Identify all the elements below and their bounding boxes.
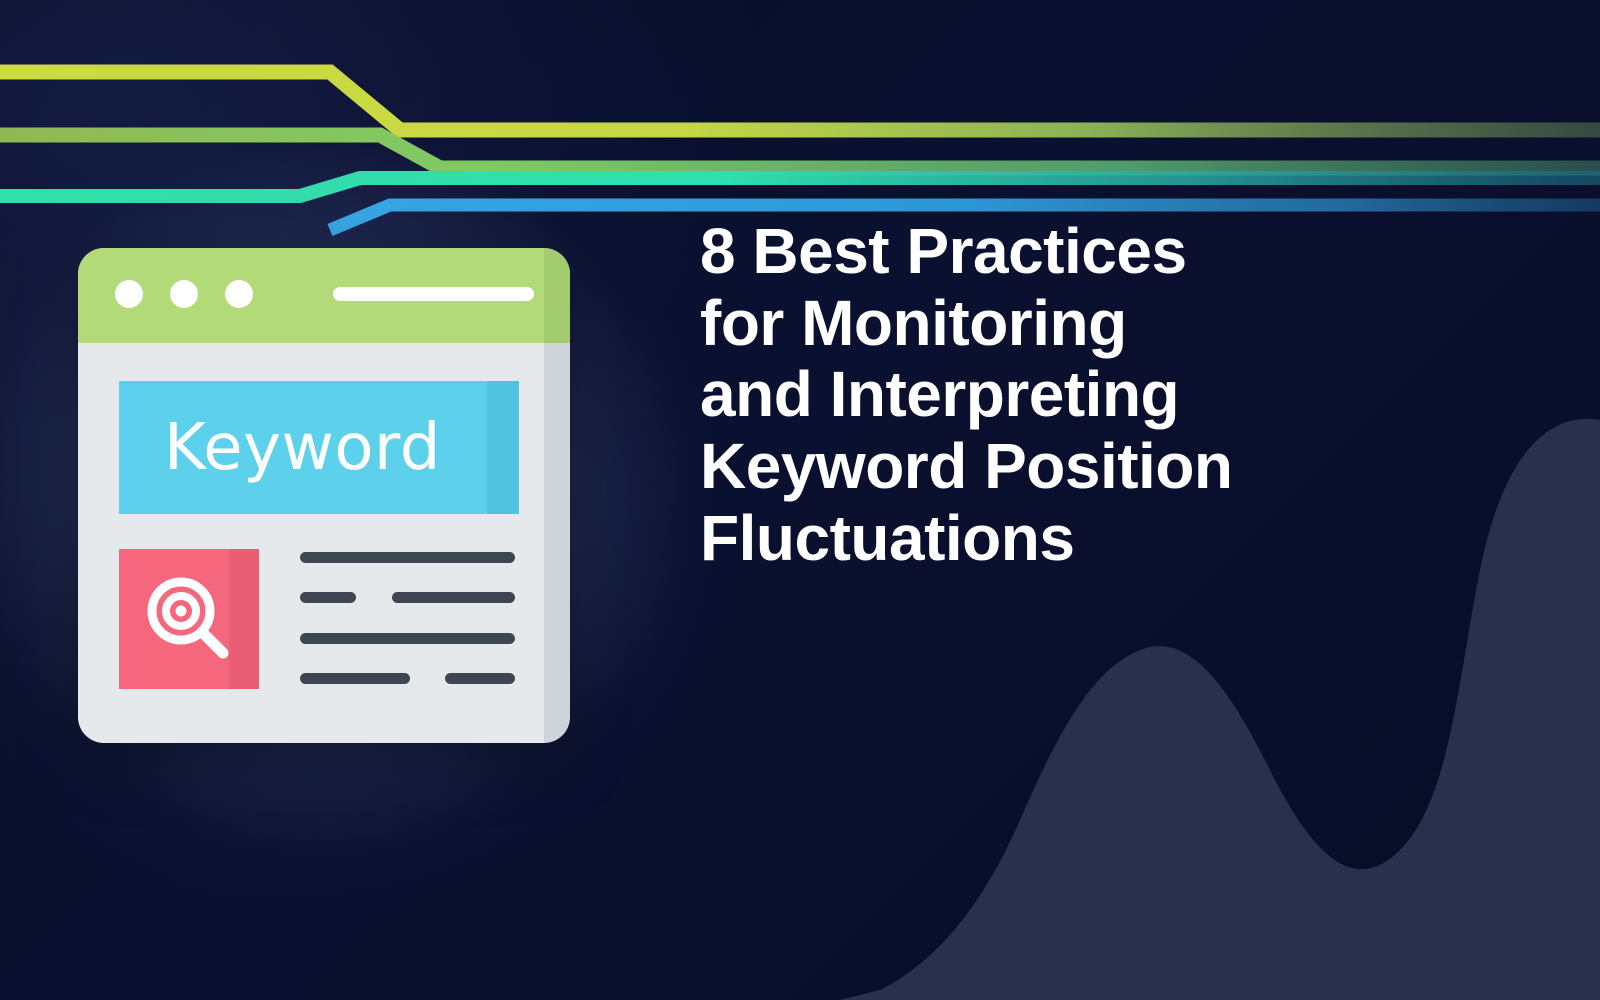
keyword-banner-shade bbox=[487, 381, 519, 514]
browser-window: Keyword bbox=[78, 248, 570, 743]
browser-illustration: Keyword bbox=[78, 248, 570, 743]
text-line-row3 bbox=[300, 633, 515, 644]
keyword-banner: Keyword bbox=[119, 381, 519, 514]
hero-banner: Keyword 8 Best P bbox=[0, 0, 1600, 1000]
browser-url-bar[interactable] bbox=[333, 287, 534, 301]
keyword-label: Keyword bbox=[164, 411, 441, 485]
headline-line-1: 8 Best Practices bbox=[700, 216, 1500, 288]
headline-line-2: for Monitoring bbox=[700, 288, 1500, 360]
headline-line-4: Keyword Position bbox=[700, 431, 1500, 503]
content-text-lines bbox=[300, 548, 515, 693]
browser-titlebar bbox=[78, 248, 570, 343]
text-line-row1 bbox=[300, 552, 515, 563]
page-title: 8 Best Practices for Monitoring and Inte… bbox=[700, 216, 1500, 574]
text-line-row2-b bbox=[392, 592, 515, 603]
magnifier-target-icon bbox=[141, 571, 237, 667]
headline-line-3: and Interpreting bbox=[700, 359, 1500, 431]
text-line-row4-a bbox=[300, 673, 410, 684]
headline-line-5: Fluctuations bbox=[700, 503, 1500, 575]
search-tile bbox=[119, 549, 259, 689]
text-line-row4-b bbox=[445, 673, 515, 684]
titlebar-shade bbox=[544, 248, 570, 343]
window-dot-1-icon[interactable] bbox=[115, 280, 143, 308]
text-line-row2-a bbox=[300, 592, 356, 603]
window-dot-3-icon[interactable] bbox=[225, 280, 253, 308]
window-dot-2-icon[interactable] bbox=[170, 280, 198, 308]
